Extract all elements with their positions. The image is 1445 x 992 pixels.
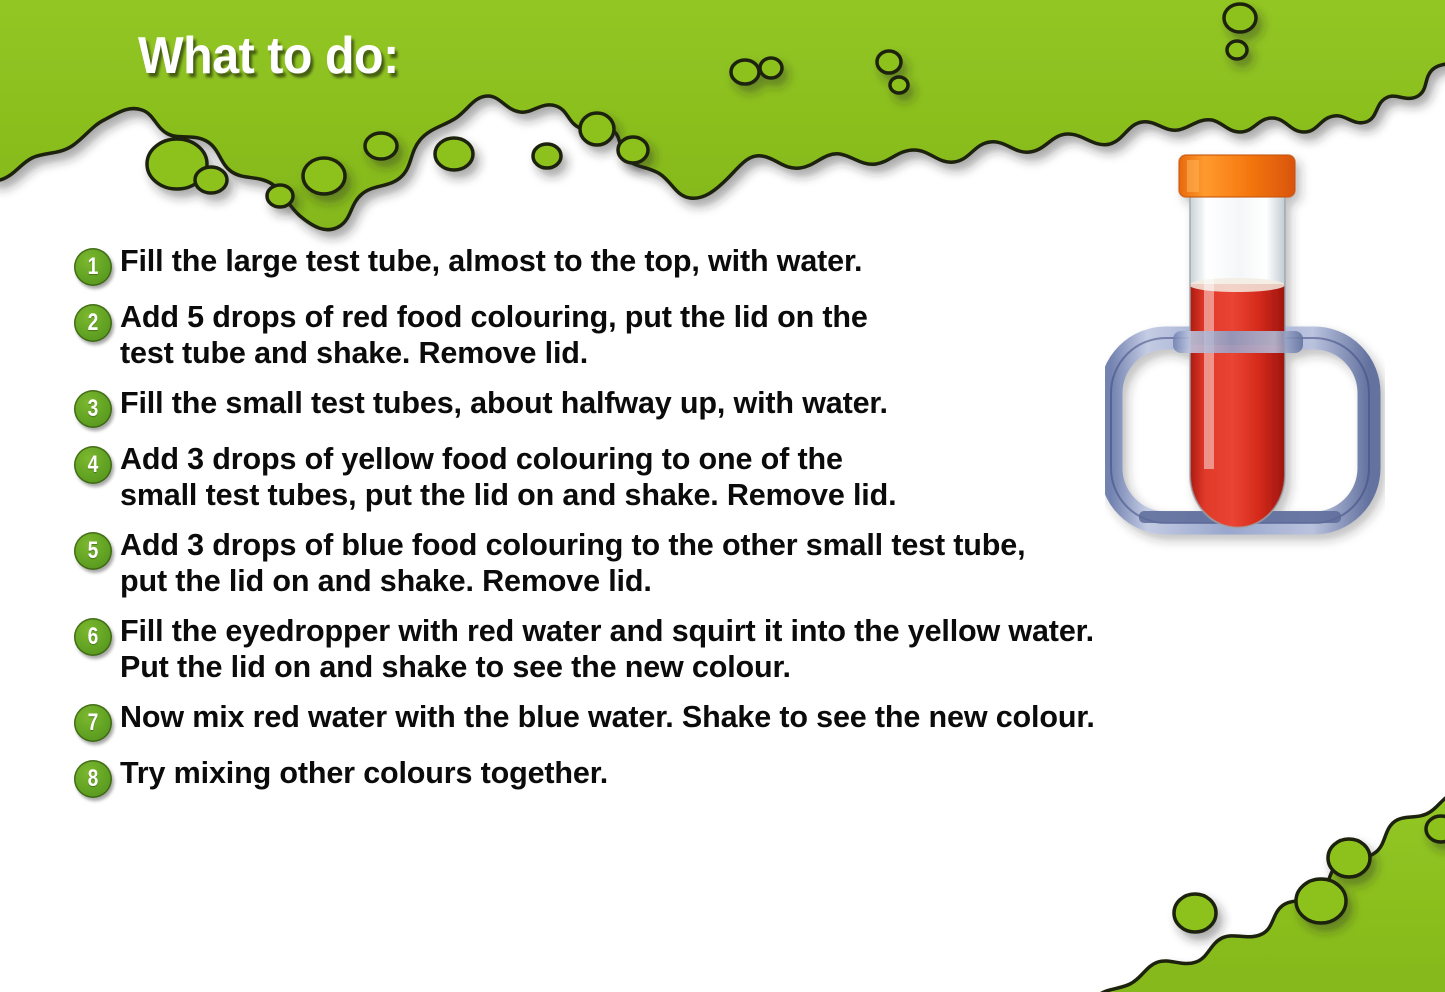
step-number: 6 (78, 618, 108, 656)
step-badge: 8 (74, 760, 112, 798)
slime-bottom-mass (1092, 792, 1445, 992)
step-number: 1 (78, 248, 108, 286)
step-number: 7 (78, 704, 108, 742)
slime-bottom-droplets (1174, 816, 1445, 932)
step-number: 8 (78, 760, 108, 798)
step-text: Fill the small test tubes, about halfway… (120, 386, 888, 422)
step-number: 5 (78, 532, 108, 570)
step-text: Now mix red water with the blue water. S… (120, 700, 1095, 736)
list-item: 4 Add 3 drops of yellow food colouring t… (74, 442, 1334, 514)
step-number: 2 (78, 304, 108, 342)
steps-list: 1 Fill the large test tube, almost to th… (74, 244, 1334, 812)
step-number: 4 (78, 446, 108, 484)
step-badge: 5 (74, 532, 112, 570)
list-item: 8 Try mixing other colours together. (74, 756, 1334, 798)
step-badge: 1 (74, 248, 112, 286)
step-text: Add 3 drops of blue food colouring to th… (120, 528, 1025, 600)
step-text: Try mixing other colours together. (120, 756, 608, 792)
page-title: What to do: (138, 26, 399, 86)
step-badge: 6 (74, 618, 112, 656)
step-badge: 2 (74, 304, 112, 342)
worksheet-page: What to do: (0, 0, 1445, 992)
list-item: 3 Fill the small test tubes, about halfw… (74, 386, 1334, 428)
list-item: 5 Add 3 drops of blue food colouring to … (74, 528, 1334, 600)
step-text: Fill the eyedropper with red water and s… (120, 614, 1094, 686)
tube-cap (1179, 155, 1295, 197)
list-item: 6 Fill the eyedropper with red water and… (74, 614, 1334, 686)
step-text: Add 3 drops of yellow food colouring to … (120, 442, 896, 514)
step-number: 3 (78, 390, 108, 428)
list-item: 7 Now mix red water with the blue water.… (74, 700, 1334, 742)
step-text: Fill the large test tube, almost to the … (120, 244, 862, 280)
step-badge: 3 (74, 390, 112, 428)
step-badge: 7 (74, 704, 112, 742)
step-badge: 4 (74, 446, 112, 484)
list-item: 1 Fill the large test tube, almost to th… (74, 244, 1334, 286)
list-item: 2 Add 5 drops of red food colouring, put… (74, 300, 1334, 372)
step-text: Add 5 drops of red food colouring, put t… (120, 300, 868, 372)
